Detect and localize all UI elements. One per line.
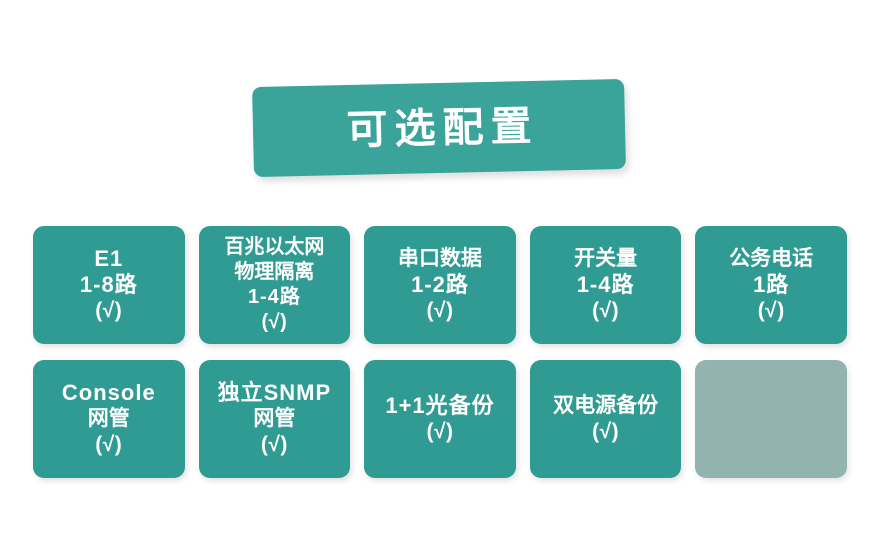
feature-card-service-telephone[interactable]: 公务电话1路(√): [695, 226, 847, 344]
header-banner-shape: 可选配置: [252, 79, 626, 177]
feature-card-line: 1+1光备份: [385, 393, 494, 419]
feature-card-grid: E11-8路(√)百兆以太网物理隔离1-4路(√)串口数据1-2路(√)开关量1…: [33, 226, 847, 478]
check-mark-icon: (√): [95, 298, 122, 324]
feature-card-switch-quantity[interactable]: 开关量1-4路(√): [530, 226, 682, 344]
feature-card-line: 1-2路: [411, 272, 469, 298]
feature-card-line: E1: [94, 246, 123, 272]
page-title: 可选配置: [339, 105, 539, 150]
check-mark-icon: (√): [592, 298, 619, 324]
feature-card-line: 物理隔离: [234, 260, 314, 285]
check-mark-icon: (√): [261, 310, 287, 335]
feature-card-line: 串口数据: [398, 246, 482, 272]
feature-card-line: 1路: [753, 272, 789, 298]
feature-card-dual-power-redundancy[interactable]: 双电源备份(√): [530, 360, 682, 478]
check-mark-icon: (√): [758, 298, 785, 324]
optional-configuration-panel: 可选配置 E11-8路(√)百兆以太网物理隔离1-4路(√)串口数据1-2路(√…: [0, 0, 880, 560]
feature-card-line: 双电源备份: [553, 393, 658, 419]
header-banner: 可选配置: [253, 83, 625, 173]
feature-card-serial-data[interactable]: 串口数据1-2路(√): [364, 226, 516, 344]
feature-card-line: 1-8路: [80, 272, 138, 298]
feature-card-line: 开关量: [574, 246, 637, 272]
check-mark-icon: (√): [426, 298, 453, 324]
feature-card-line: Console: [62, 380, 156, 406]
feature-card-e1[interactable]: E11-8路(√): [33, 226, 185, 344]
feature-card-line: 网管: [253, 406, 295, 432]
feature-card-line: 1-4路: [248, 285, 301, 310]
feature-card-line: 独立SNMP: [218, 380, 332, 406]
feature-card-line: 公务电话: [729, 246, 813, 272]
check-mark-icon: (√): [426, 419, 453, 445]
feature-card-line: 1-4路: [577, 272, 635, 298]
feature-card-independent-snmp-management[interactable]: 独立SNMP网管(√): [199, 360, 351, 478]
feature-card-placeholder: [695, 360, 847, 478]
feature-card-optical-redundancy[interactable]: 1+1光备份(√): [364, 360, 516, 478]
feature-card-console-management[interactable]: Console网管(√): [33, 360, 185, 478]
feature-card-fast-ethernet-physical-isolation[interactable]: 百兆以太网物理隔离1-4路(√): [199, 226, 351, 344]
feature-card-line: 百兆以太网: [224, 235, 324, 260]
feature-card-line: 网管: [88, 406, 130, 432]
check-mark-icon: (√): [261, 432, 288, 458]
check-mark-icon: (√): [95, 432, 122, 458]
check-mark-icon: (√): [592, 419, 619, 445]
